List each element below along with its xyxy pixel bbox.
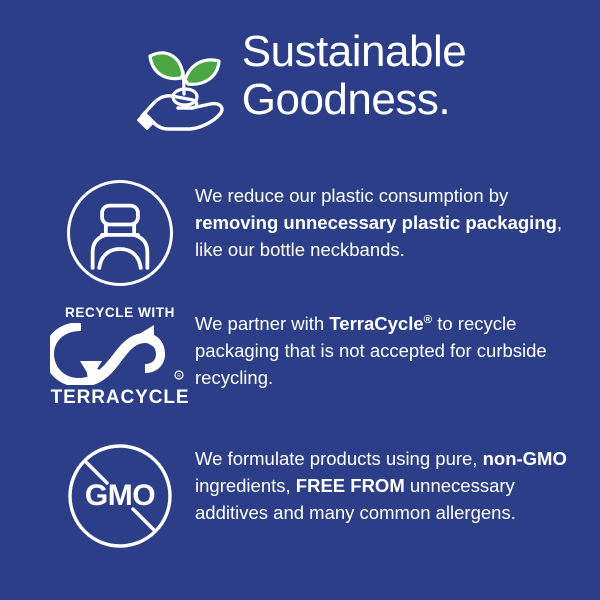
svg-text:R: R [177,374,181,380]
hand-holding-sprout-icon [134,34,230,134]
sustainable-goodness-panel: Sustainable Goodness. [0,0,600,600]
header: Sustainable Goodness. [0,22,600,134]
feature-row-plastic-reduction: We reduce our plastic consumption by rem… [45,180,590,286]
no-gmo-icon: GMO [67,443,173,549]
terracycle-top-label: RECYCLE WITH [65,305,175,320]
feature-row-non-gmo: GMO We formulate products using pure, no… [45,443,590,549]
feature-text-terracycle: We partner with TerraCycle® to recycle p… [195,305,590,391]
feature-text-non-gmo: We formulate products using pure, non-GM… [195,443,590,526]
title-line-1: Sustainable [242,27,466,76]
gmo-label: GMO [67,443,173,549]
gmo-icon-wrapper: GMO [45,443,195,549]
bottle-icon-wrapper [45,180,195,286]
bottle-no-neckband-icon [67,180,173,286]
feature-text-plastic-reduction: We reduce our plastic consumption by rem… [195,180,590,263]
feature-row-terracycle: RECYCLE WITH R [45,305,590,408]
terracycle-logo-wrapper: RECYCLE WITH R [45,305,195,408]
terracycle-logo: RECYCLE WITH R [46,305,194,408]
terracycle-bottom-label: TERRACYCLE [51,387,190,408]
title-line-2: Goodness. [242,76,466,124]
infinity-arrows-icon: R [50,323,190,385]
page-title: Sustainable Goodness. [242,22,466,124]
